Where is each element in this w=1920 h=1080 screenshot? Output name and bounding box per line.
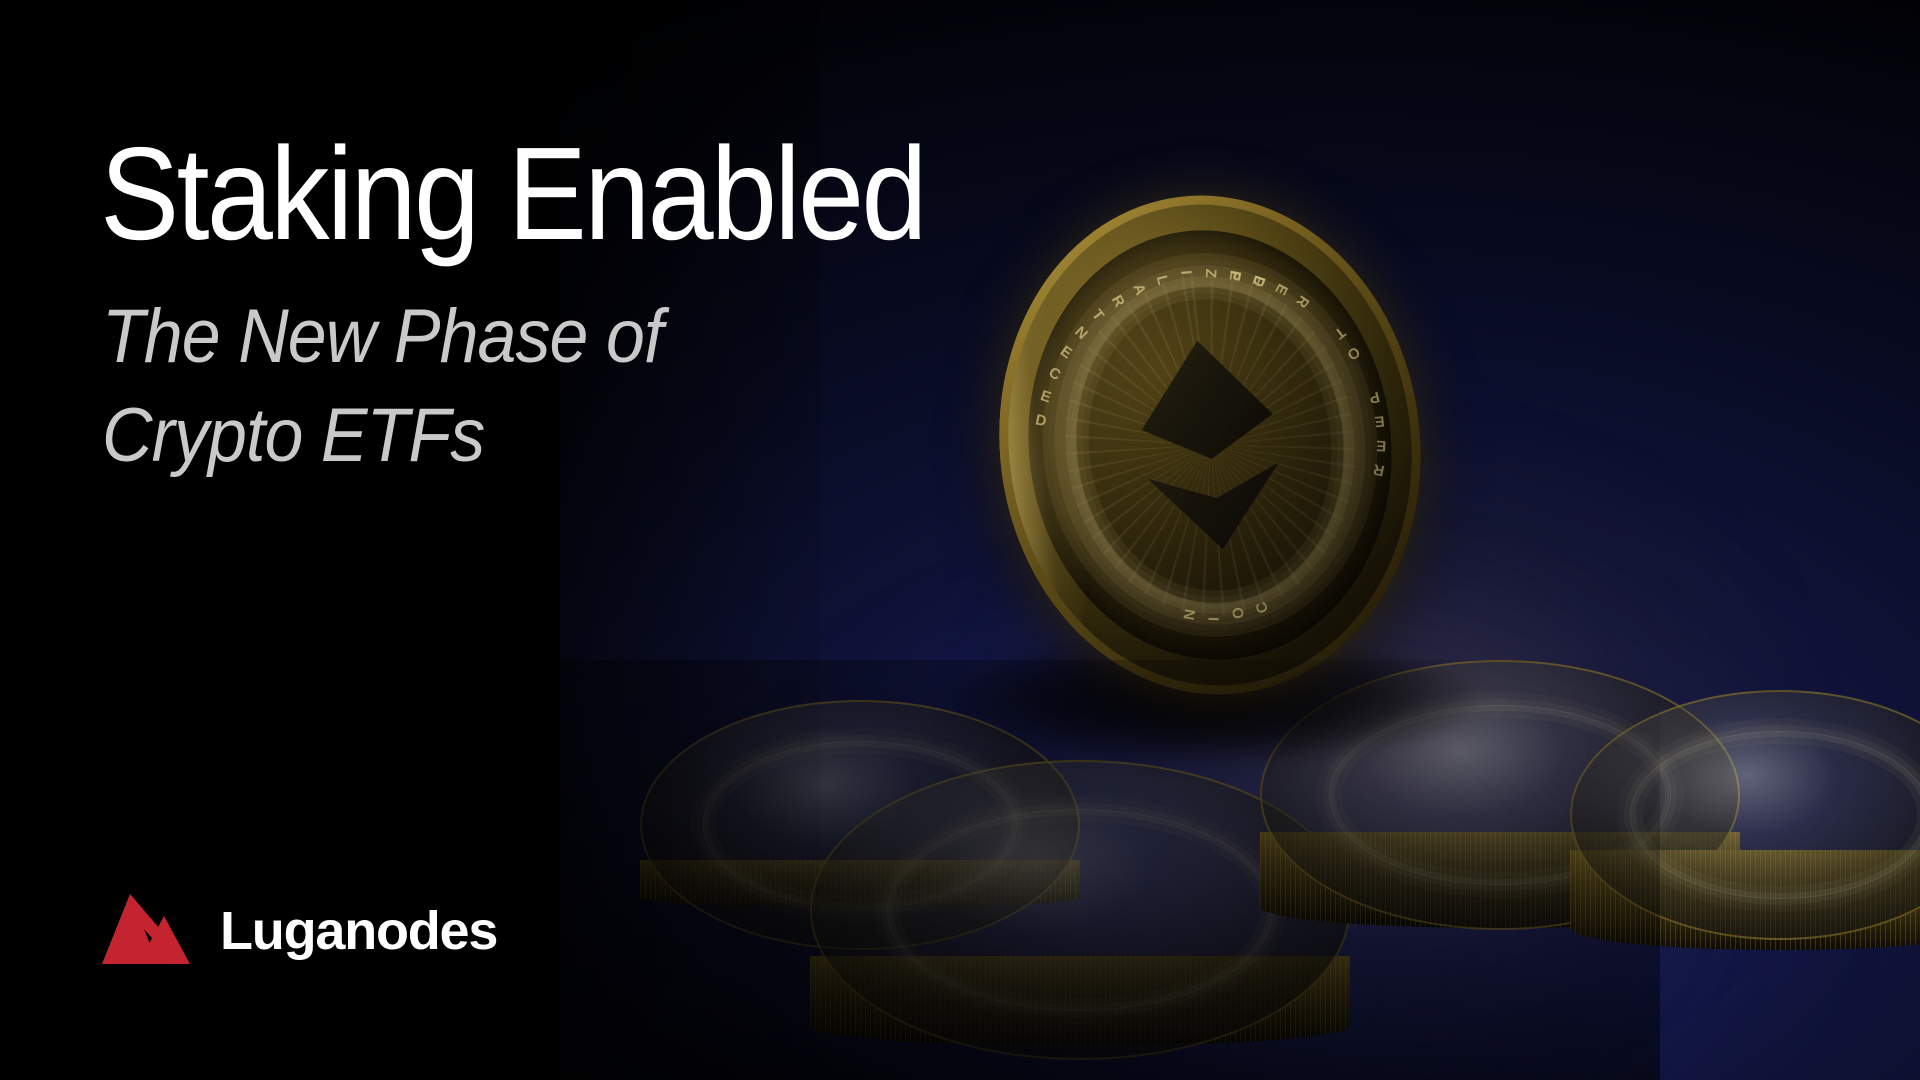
banner-subtitle-line-1: The New Phase of [102, 288, 801, 387]
mountain-peaks-icon [100, 890, 192, 972]
standing-ethereum-coin: DECENTRALIZEDPEERTOPEERCOIN [971, 171, 1449, 718]
banner-headline: Staking Enabled [100, 128, 925, 260]
luganodes-wordmark: Luganodes [220, 904, 497, 958]
banner-subtitle: The New Phase of Crypto ETFs [102, 288, 801, 486]
luganodes-logo[interactable]: Luganodes [100, 890, 497, 972]
banner-canvas: DECENTRALIZEDPEERTOPEERCOIN Staking Enab… [0, 0, 1920, 1080]
banner-content: Staking Enabled The New Phase of Crypto … [100, 0, 1000, 1080]
banner-subtitle-line-2: Crypto ETFs [102, 387, 801, 486]
